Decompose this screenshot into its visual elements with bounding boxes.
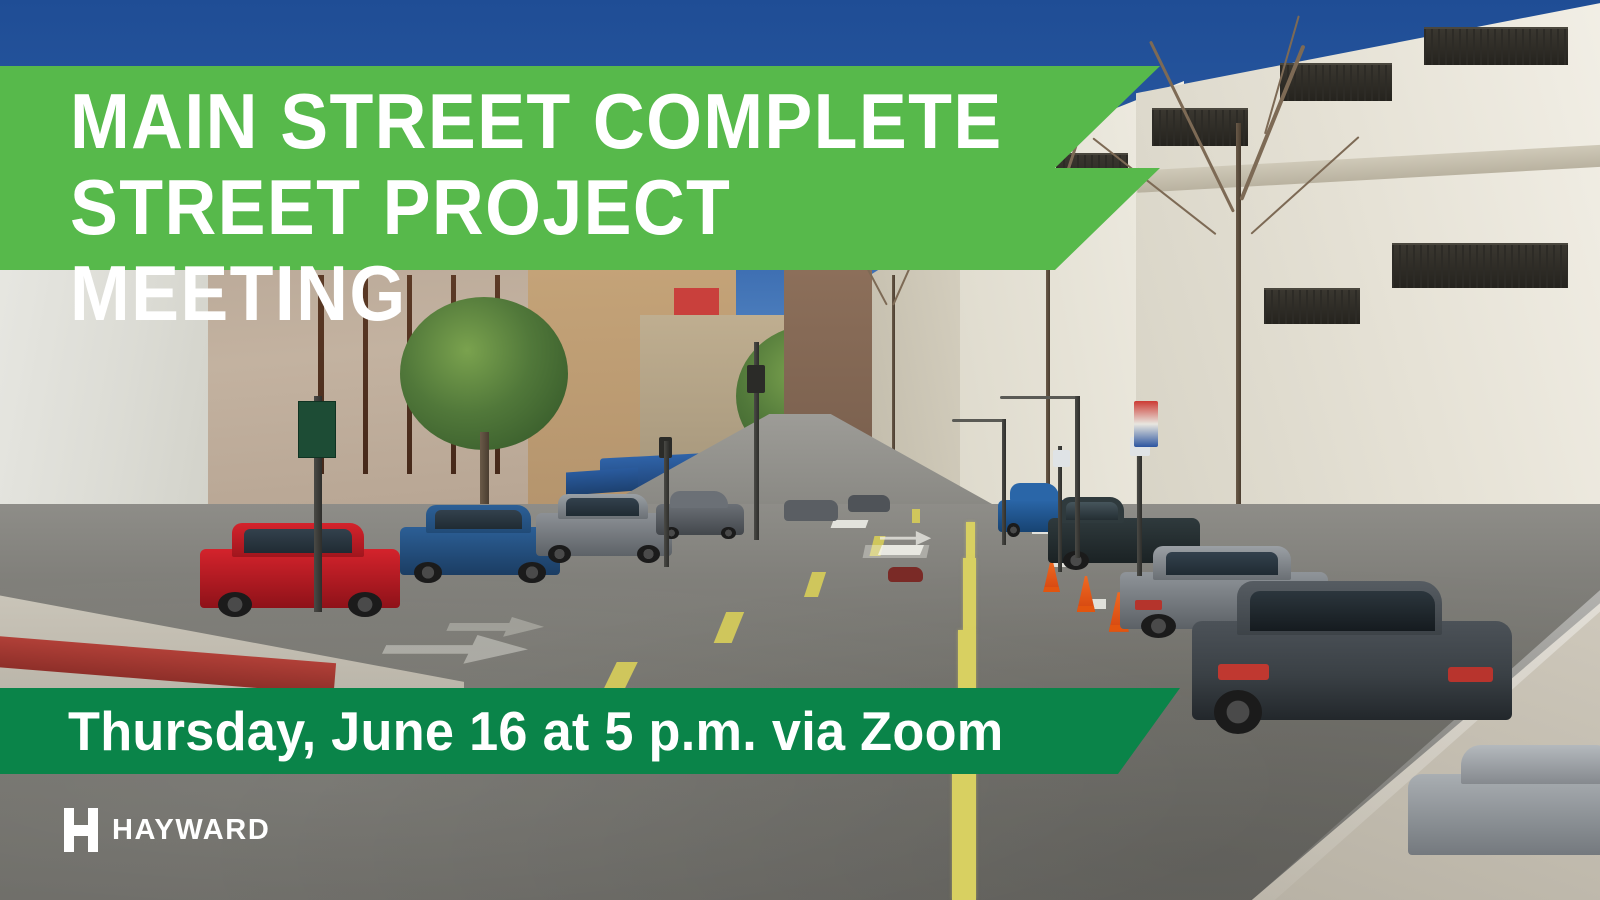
event-flyer: MAIN STREET COMPLETE STREET PROJECT MEET… [0,0,1600,900]
headline-text: MAIN STREET COMPLETE STREET PROJECT MEET… [70,78,1045,336]
car-wheel [518,562,545,582]
car-roof [1461,745,1600,784]
parked-car-gray-foreground [1192,621,1512,720]
truck-cab [1010,483,1059,502]
lane-line-yellow [966,522,975,558]
truck-window [1066,502,1118,520]
streetlamp-pole [1075,396,1080,558]
traffic-signal-pole-2 [664,441,669,567]
car-wheel [637,545,660,563]
car-windshield [566,498,639,515]
lane-line-yellow [963,558,976,630]
tail-light [1135,600,1162,609]
hayward-wordmark: HAYWARD [112,814,270,847]
tree-trunk [1236,123,1242,558]
car-windshield [435,510,521,529]
parking-sign-2 [1053,450,1071,467]
awning-blue-storefront-2 [566,467,638,495]
car-wheel [414,562,441,582]
car-windshield [1166,552,1278,575]
streetlamp-arm [1000,396,1080,399]
streetlamp-pole-2 [1002,419,1006,545]
car-roof [670,491,728,509]
h-right-stem [88,808,98,852]
car-wheel [218,592,252,617]
banner-flag [1134,401,1158,448]
street-sign-green [298,401,336,459]
center-line-dash [912,509,920,523]
car-rear-window [1250,591,1436,631]
tree-branch [1264,16,1300,135]
car-windshield [244,529,352,552]
parked-car-red [200,549,400,608]
parked-car-distant [784,500,838,522]
crosswalk-dash [831,520,869,528]
car-wheel [1214,690,1262,734]
parked-car-far-left [656,504,744,535]
truck-wheel [1007,523,1020,537]
tail-light [1448,667,1493,683]
tree-branch [1250,136,1359,235]
car-wheel [348,592,382,617]
tail-light [1218,664,1269,681]
balcony-railing [1424,27,1568,65]
parked-car-distant-2 [848,495,890,512]
traffic-signal-head [747,365,765,394]
parked-car-silver [536,513,672,556]
hayward-logo: HAYWARD [64,808,270,852]
moving-car-distant [888,567,923,582]
pavement-marking [863,545,930,558]
hayward-h-mark-icon [64,808,98,852]
parked-car-silver-foreground [1408,774,1600,855]
streetlamp-arm-2 [952,419,1006,422]
event-date-text: Thursday, June 16 at 5 p.m. via Zoom [68,698,1066,764]
tree-branch [1239,45,1305,202]
